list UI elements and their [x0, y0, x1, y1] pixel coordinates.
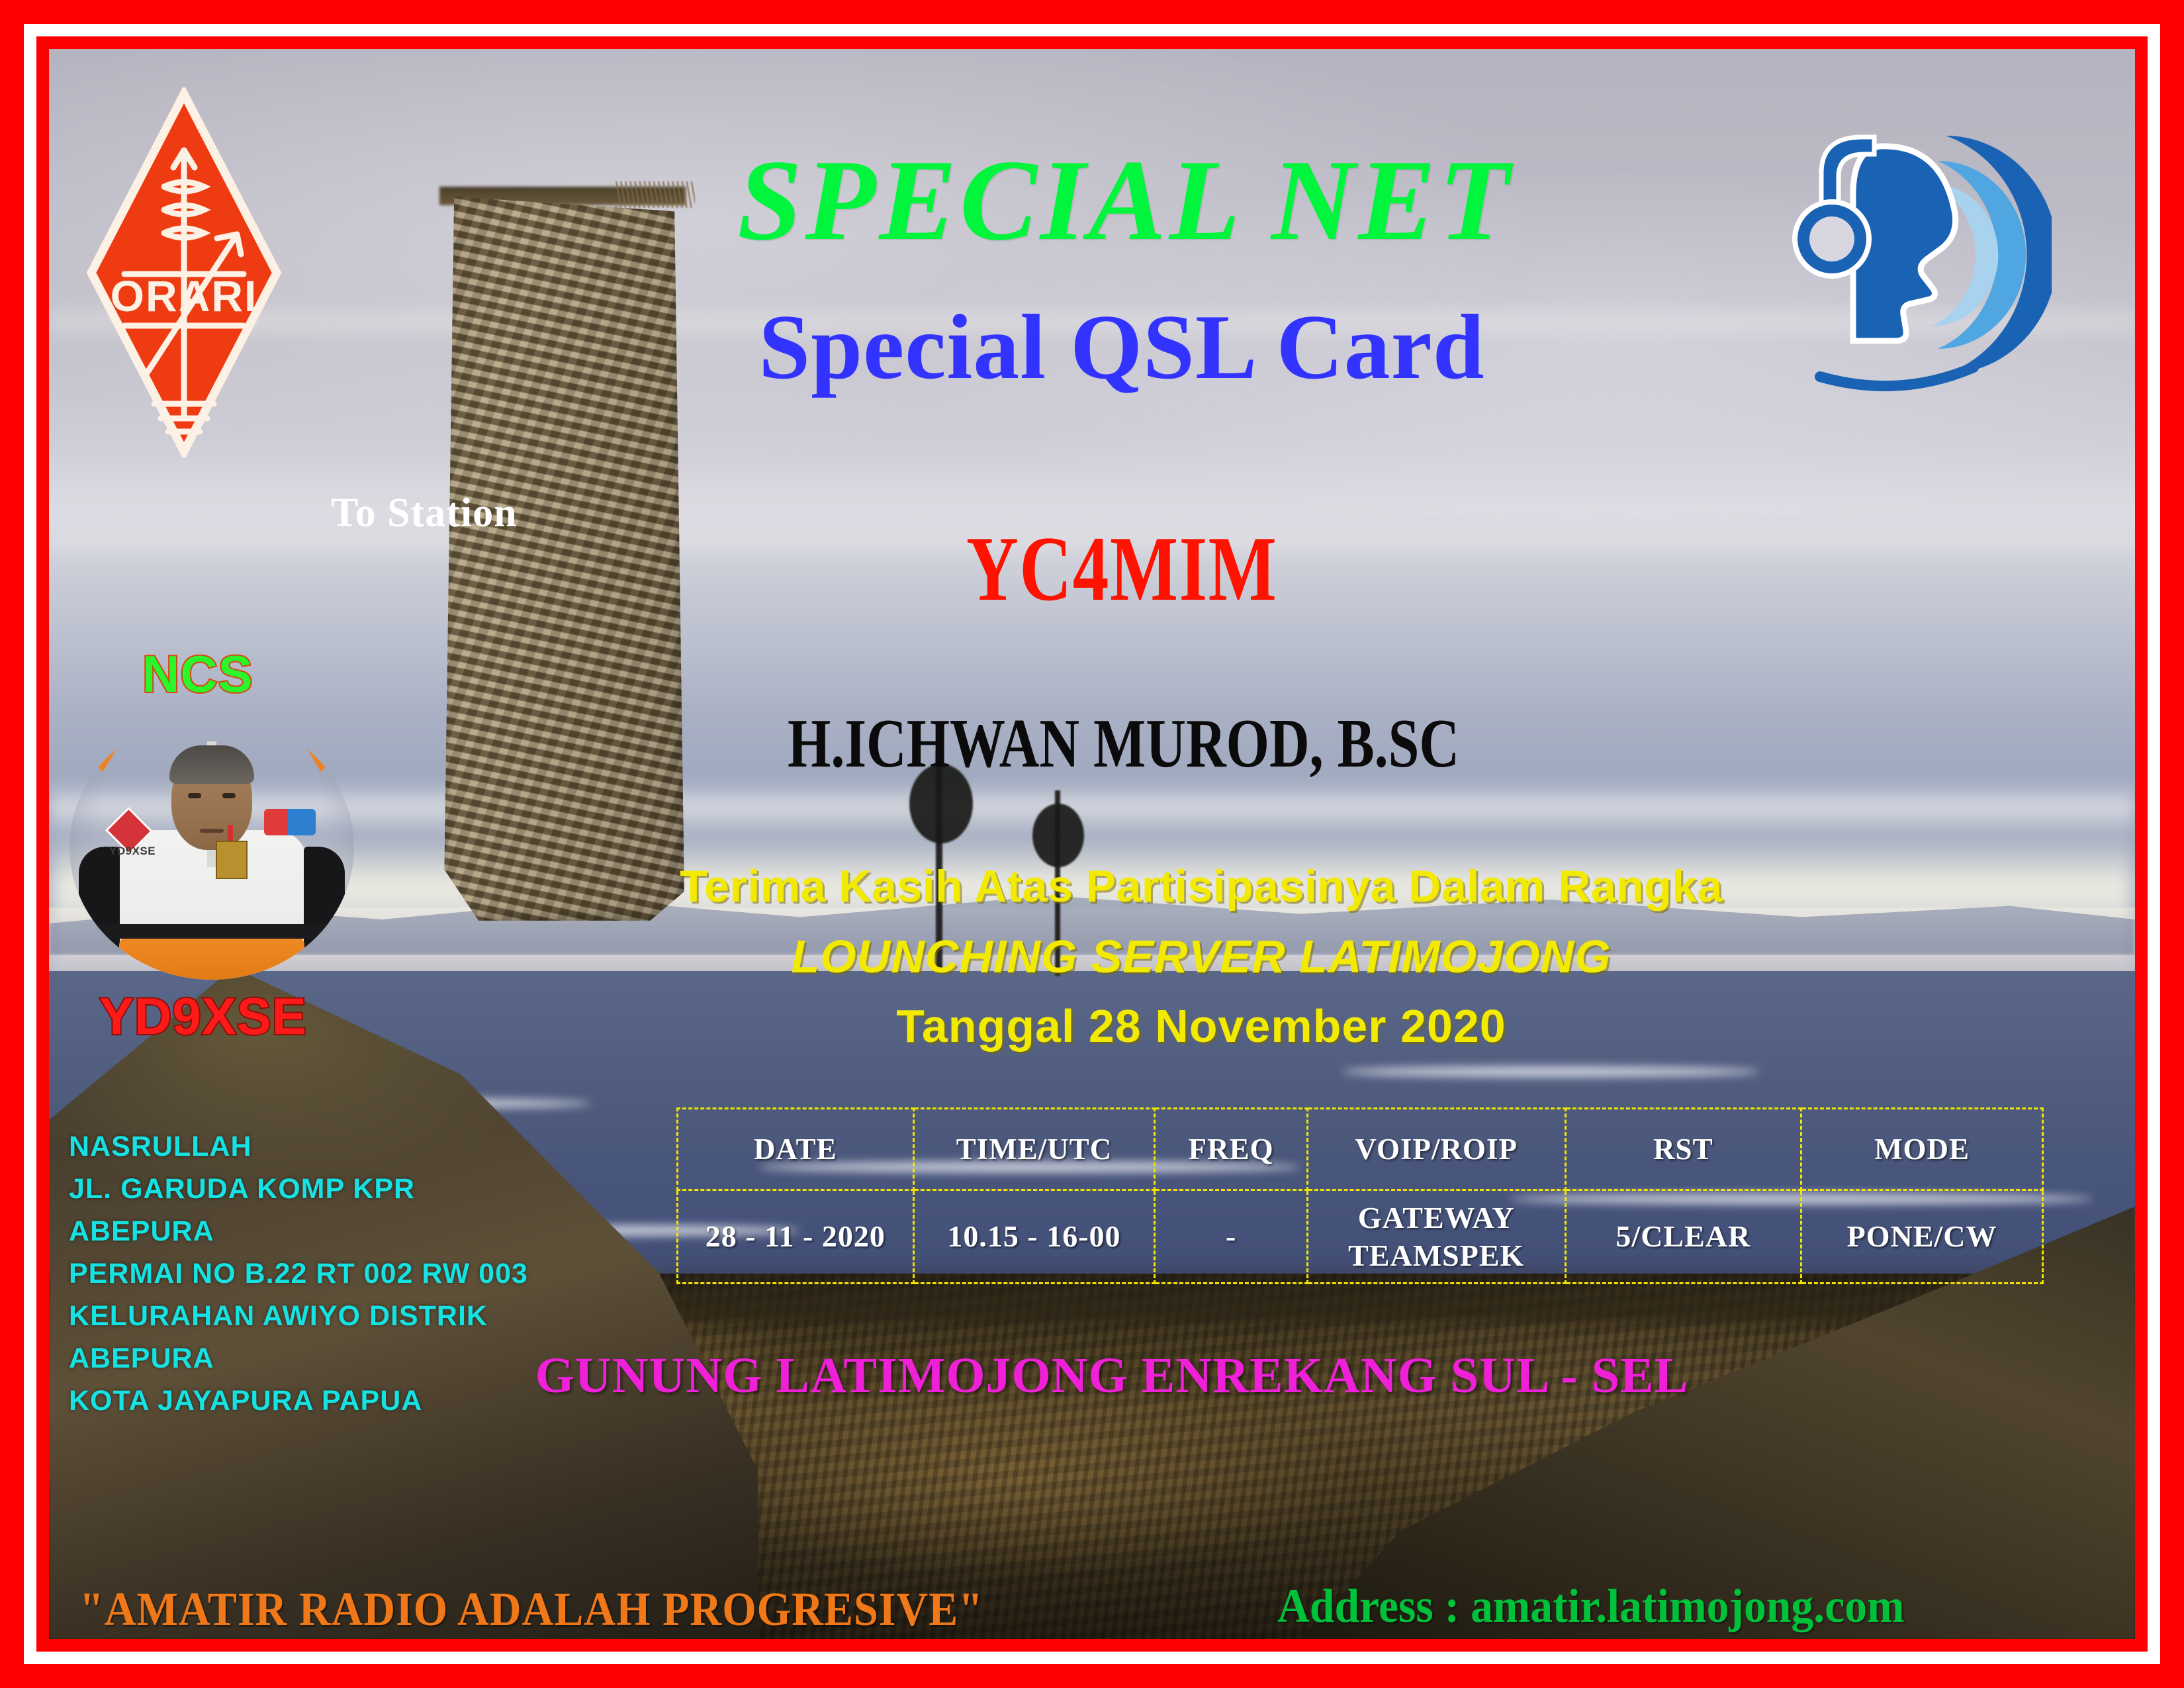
- operator-name: H.ICHWAN MUROD, B.SC: [788, 708, 1459, 778]
- cell-freq: -: [1155, 1190, 1307, 1284]
- ncs-role-label: NCS: [142, 644, 253, 704]
- stone-cairn: [439, 189, 684, 921]
- footer-web-address: Address : amatir.latimojong.com: [1277, 1579, 1904, 1634]
- thanks-line-3: Tanggal 28 November 2020: [0, 1000, 2184, 1053]
- column-header-time: TIME/UTC: [913, 1109, 1155, 1190]
- org-patch-icon: [264, 809, 316, 835]
- eye-right: [222, 793, 236, 798]
- footer-slogan: "AMATIR RADIO ADALAH PROGRESIVE": [79, 1582, 983, 1637]
- location-caption: GUNUNG LATIMOJONG ENREKANG SUL - SEL: [0, 1347, 2184, 1405]
- cell-rst: 5/CLEAR: [1565, 1190, 1801, 1284]
- station-callsign: YC4MIM: [966, 523, 1277, 616]
- thanks-line-2: LOUNCHING SERVER LATIMOJONG: [0, 930, 2184, 983]
- table-row: 28 - 11 - 2020 10.15 - 16-00 - GATEWAYTE…: [678, 1190, 2043, 1284]
- address-line: KELURAHAN AWIYO DISTRIK: [69, 1295, 528, 1337]
- hair: [169, 745, 254, 784]
- cell-date: 28 - 11 - 2020: [678, 1190, 914, 1284]
- address-line: JL. GARUDA KOMP KPR: [69, 1168, 528, 1210]
- cell-voip-roip: GATEWAYTEAMSPEK: [1307, 1190, 1565, 1284]
- mouth: [200, 829, 224, 833]
- column-header-date: DATE: [678, 1109, 914, 1190]
- column-header-rst: RST: [1565, 1109, 1801, 1190]
- column-header-freq: FREQ: [1155, 1109, 1307, 1190]
- cell-time: 10.15 - 16-00: [913, 1190, 1155, 1284]
- address-line: ABEPURA: [69, 1210, 528, 1252]
- column-header-voip-roip: VOIP/ROIP: [1307, 1109, 1565, 1190]
- eye-left: [188, 793, 201, 798]
- address-line: NASRULLAH: [69, 1125, 528, 1168]
- page-subtitle: Special QSL Card: [0, 301, 2184, 394]
- page-title: SPECIAL NET: [0, 142, 2184, 258]
- table-header-row: DATE TIME/UTC FREQ VOIP/ROIP RST MODE: [678, 1109, 2043, 1190]
- thanks-line-1: Terima Kasih Atas Partisipasinya Dalam R…: [0, 861, 2184, 912]
- cell-mode: PONE/CW: [1801, 1190, 2043, 1284]
- to-station-label: To Station: [331, 490, 518, 537]
- tree-silhouette: [1032, 804, 1084, 867]
- address-line: PERMAI NO B.22 RT 002 RW 003: [69, 1252, 528, 1295]
- qsl-card: ORARI SPECIAL NET Special QSL Card To St…: [0, 0, 2184, 1688]
- shirt-callsign-text: YD9XSE: [109, 845, 156, 858]
- qso-log-table: DATE TIME/UTC FREQ VOIP/ROIP RST MODE 28…: [676, 1107, 2044, 1284]
- column-header-mode: MODE: [1801, 1109, 2043, 1190]
